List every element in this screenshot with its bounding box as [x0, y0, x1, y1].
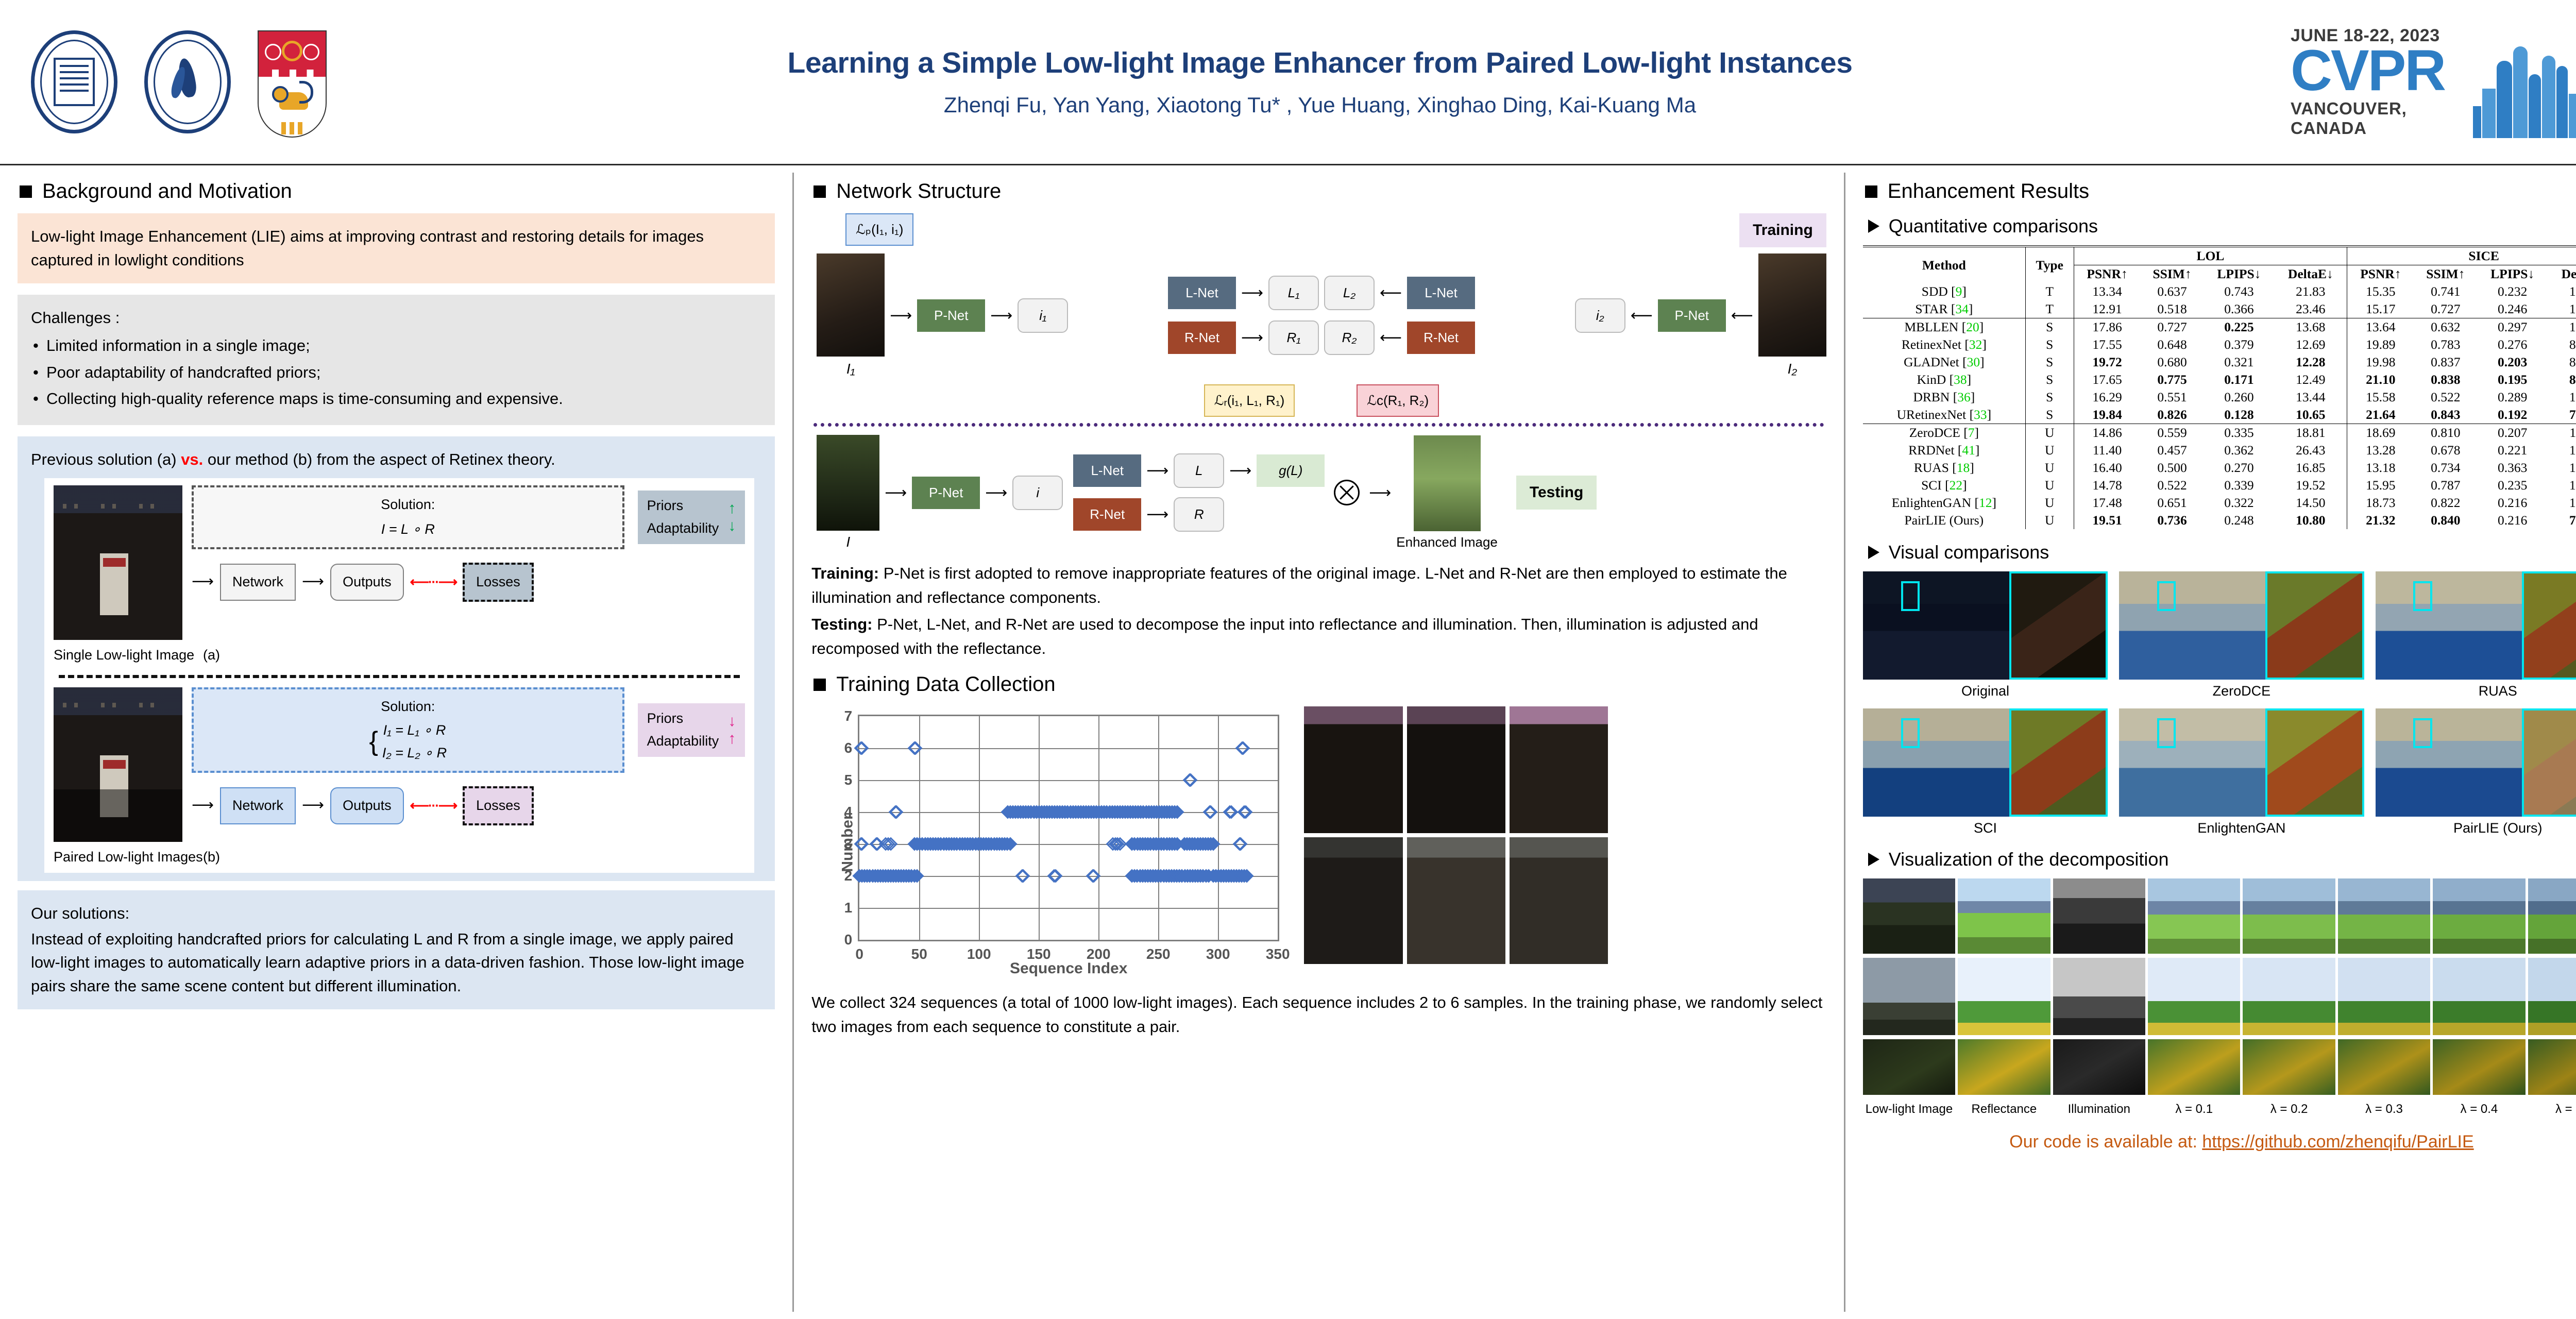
- cell-value: 21.10: [2347, 371, 2414, 388]
- table-row: GLADNet [30]S19.720.6800.32112.2819.980.…: [1863, 353, 2576, 371]
- challenges-list: Limited information in a single image; P…: [31, 334, 761, 411]
- priors-down-arrow-icon: ↓: [728, 714, 736, 729]
- data-point: [855, 741, 869, 755]
- section-title-text: Training Data Collection: [836, 673, 1055, 696]
- comparison-main-image: [2376, 571, 2522, 680]
- p-net-box-right: P-Net: [1658, 299, 1726, 332]
- cell-value: 0.248: [2204, 512, 2274, 529]
- comparison-main-image: [2119, 708, 2265, 817]
- training-tag: Training: [1739, 213, 1826, 247]
- cell-value: 11.93: [2548, 424, 2576, 442]
- comparison-images: [2119, 708, 2364, 817]
- arrow-icon: ⟶: [1229, 462, 1251, 480]
- visual-comparison-item: SCI: [1863, 708, 2108, 836]
- subsection-title-text: Quantitative comparisons: [1889, 215, 2098, 237]
- priors-label: Priors: [647, 496, 719, 516]
- data-point: [1204, 805, 1218, 819]
- cell-value: 0.648: [2141, 336, 2204, 353]
- conference-city: VANCOUVER, CANADA: [2291, 99, 2468, 138]
- arrow-icon: ⟶: [192, 794, 214, 817]
- decomposition-image: [2243, 958, 2335, 1035]
- cell-value: 0.322: [2204, 494, 2274, 512]
- cell-value: 16.08: [2548, 283, 2576, 300]
- R-box: R: [1174, 497, 1224, 532]
- table-row: RUAS [18]U16.400.5000.27016.8513.180.734…: [1863, 459, 2576, 477]
- subsection-title-text: Visual comparisons: [1889, 542, 2049, 563]
- cell-value: 13.68: [2274, 318, 2347, 336]
- losses-box-a: Losses: [463, 563, 534, 602]
- decomposition-image: [2243, 1039, 2335, 1095]
- decomposition-image: [2528, 878, 2576, 954]
- gridline: [1039, 716, 1040, 940]
- cell-value: 0.128: [2204, 406, 2274, 424]
- network-diagram-training: ℒₚ(I₁, i₁) Training I₁ ⟶ P-Net ⟶ i₁: [817, 213, 1826, 417]
- cell-type: U: [2025, 494, 2074, 512]
- arrow-icon: ⟵: [1731, 307, 1753, 325]
- comparison-main-image: [2119, 571, 2265, 680]
- cell-type: U: [2025, 459, 2074, 477]
- cell-value: 15.95: [2347, 477, 2414, 494]
- figure-b-caption-row: Paired Low-light Images (b): [54, 847, 745, 868]
- testing-tag: Testing: [1516, 476, 1597, 510]
- solution-equation-1: I₁ = L₁ ∘ R: [382, 720, 447, 741]
- figure-a-caption: Single Low-light Image: [54, 645, 203, 666]
- cell-value: 16.40: [2074, 459, 2141, 477]
- l-net-box-left: L-Net: [1168, 277, 1236, 309]
- training-description: Training: P-Net is first adopted to remo…: [811, 562, 1826, 610]
- cell-type: S: [2025, 371, 2074, 388]
- square-bullet-icon: [814, 679, 826, 691]
- cell-method: RetinexNet [32]: [1863, 336, 2026, 353]
- code-url-link[interactable]: https://github.com/zhenqifu/PairLIE: [2202, 1132, 2473, 1152]
- data-point: [1224, 805, 1238, 819]
- comparison-images: [1863, 571, 2108, 680]
- table-header: Method Type LOL SICE PSNR↑ SSIM↑ LPIPS↓ …: [1863, 246, 2576, 283]
- testing-label: Testing:: [811, 615, 872, 633]
- subsection-visual: Visual comparisons: [1868, 542, 2576, 563]
- decomposition-label: λ = 0.1: [2148, 1102, 2240, 1117]
- cell-value: 0.232: [2477, 283, 2548, 300]
- cell-value: 0.216: [2477, 494, 2548, 512]
- xiamen-university-seal-icon: [31, 30, 123, 133]
- cell-value: 0.736: [2141, 512, 2204, 529]
- decomposition-image: [1863, 1039, 1955, 1095]
- chart-plot-area: 01234567050100150200250300350: [858, 715, 1279, 941]
- cell-type: S: [2025, 336, 2074, 353]
- arrow-icon: ⟶: [1369, 484, 1391, 502]
- cell-value: 0.651: [2141, 494, 2204, 512]
- compare-intro: Previous solution (a) vs. our method (b)…: [31, 448, 761, 472]
- arrow-icon: ⟶: [990, 307, 1012, 325]
- challenges-box: Challenges : Limited information in a si…: [18, 295, 775, 426]
- cell-value: 15.17: [2347, 300, 2414, 318]
- cell-value: 0.838: [2414, 371, 2477, 388]
- cell-method: SDD [9]: [1863, 283, 2026, 300]
- results-table: Method Type LOL SICE PSNR↑ SSIM↑ LPIPS↓ …: [1863, 245, 2576, 529]
- p-net-box-test: P-Net: [912, 477, 980, 509]
- cell-value: 7.728: [2548, 406, 2576, 424]
- training-photo: [1510, 837, 1608, 964]
- chart-xlabel: Sequence Index: [858, 960, 1279, 977]
- decomposition-label: λ = 0.3: [2338, 1102, 2430, 1117]
- decomposition-image: [2053, 878, 2145, 954]
- label-I1: I₁: [846, 361, 855, 377]
- cell-value: 0.203: [2477, 353, 2548, 371]
- cell-value: 0.522: [2414, 388, 2477, 406]
- col-header-lol-psnr: PSNR↑: [2074, 265, 2141, 283]
- column-results: Enhancement Results Quantitative compari…: [1845, 165, 2576, 1319]
- decomposition-image: [2433, 958, 2525, 1035]
- data-point: [1239, 805, 1252, 819]
- outputs-box-a: Outputs: [330, 564, 404, 601]
- cell-value: 0.743: [2204, 283, 2274, 300]
- cell-value: 18.73: [2347, 494, 2414, 512]
- col-header-sice-lpips: LPIPS↓: [2477, 265, 2548, 283]
- cell-type: T: [2025, 283, 2074, 300]
- cell-value: 0.260: [2204, 388, 2274, 406]
- cell-value: 0.289: [2477, 388, 2548, 406]
- y-axis-tick: 5: [844, 772, 853, 788]
- figure-a-caption-row: Single Low-light Image (a): [54, 645, 745, 666]
- comparison-images: [1863, 708, 2108, 817]
- gridline: [859, 908, 1278, 909]
- cell-value: 13.28: [2347, 442, 2414, 459]
- decomposition-label: Low-light Image: [1863, 1102, 1955, 1117]
- decomposition-image: [2148, 1039, 2240, 1095]
- col-header-lol-deltae: DeltaE↓: [2274, 265, 2347, 283]
- table-row: MBLLEN [20]S17.860.7270.22513.6813.640.6…: [1863, 318, 2576, 336]
- L2-box: L₂: [1324, 276, 1375, 310]
- square-bullet-icon: [20, 185, 32, 198]
- code-prefix: Our code is available at:: [2009, 1132, 2202, 1152]
- table-row: SCI [22]U14.780.5220.33919.5215.950.7870…: [1863, 477, 2576, 494]
- section-header-network: Network Structure: [814, 180, 1826, 203]
- group-header-lol: LOL: [2074, 246, 2347, 265]
- table-row: SDD [9]T13.340.6370.74321.8315.350.7410.…: [1863, 283, 2576, 300]
- cell-value: 0.518: [2141, 300, 2204, 318]
- y-axis-tick: 6: [844, 740, 853, 756]
- col-header-sice-ssim: SSIM↑: [2414, 265, 2477, 283]
- visual-comparison-item: RUAS: [2376, 571, 2576, 699]
- r-net-box-right: R-Net: [1407, 322, 1475, 354]
- comparison-label: RUAS: [2376, 683, 2576, 699]
- comparison-zoom-crop: [2265, 708, 2364, 817]
- arrow-icon: ⟵: [1380, 284, 1402, 302]
- cell-value: 19.72: [2074, 353, 2141, 371]
- solution-label: Solution:: [207, 495, 609, 515]
- col-header-lol-ssim: SSIM↑: [2141, 265, 2204, 283]
- comparison-main-image: [1863, 571, 2009, 680]
- cell-value: 19.98: [2347, 353, 2414, 371]
- cell-value: 0.216: [2477, 512, 2548, 529]
- cell-type: U: [2025, 477, 2074, 494]
- cell-method: URetinexNet [33]: [1863, 406, 2026, 424]
- cell-value: 0.207: [2477, 424, 2548, 442]
- decomposition-image: [2528, 958, 2576, 1035]
- author-list: Zhenqi Fu, Yan Yang, Xiaotong Tu* , Yue …: [363, 93, 2277, 117]
- cell-value: 19.51: [2074, 512, 2141, 529]
- cell-value: 0.734: [2414, 459, 2477, 477]
- cell-value: 0.457: [2141, 442, 2204, 459]
- cell-method: RUAS [18]: [1863, 459, 2026, 477]
- input-image-I1: [817, 253, 885, 357]
- network-box-a: Network: [220, 564, 296, 601]
- y-axis-tick: 7: [844, 708, 853, 724]
- col-header-sice-psnr: PSNR↑: [2347, 265, 2414, 283]
- decomposition-image: [2338, 878, 2430, 954]
- cell-type: S: [2025, 388, 2074, 406]
- arrow-icon: ⟶: [890, 307, 912, 325]
- cell-value: 0.559: [2141, 424, 2204, 442]
- solutions-title: Our solutions:: [31, 902, 761, 925]
- decomposition-label: λ = 0.2: [2243, 1102, 2335, 1117]
- ntu-shield-icon: [258, 30, 349, 133]
- l-net-box-test: L-Net: [1073, 454, 1141, 487]
- comparison-images: [2119, 571, 2364, 680]
- cell-value: 16.81: [2548, 459, 2576, 477]
- arrow-icon: ⟶: [885, 484, 907, 502]
- col-header-sice-deltae: DeltaE↓: [2548, 265, 2576, 283]
- cell-method: ZeroDCE [7]: [1863, 424, 2026, 442]
- cell-value: 0.637: [2141, 283, 2204, 300]
- cell-type: U: [2025, 442, 2074, 459]
- loss-double-arrow-icon: ⟵···⟶: [410, 796, 457, 815]
- cell-value: 0.810: [2414, 424, 2477, 442]
- cell-method: STAR [34]: [1863, 300, 2026, 318]
- label-I2: I₂: [1788, 361, 1797, 377]
- figure-a: Solution: I = L ∘ R Priors Adaptability: [44, 478, 754, 873]
- cell-value: 14.50: [2274, 494, 2347, 512]
- figure-divider: [59, 675, 740, 678]
- decomposition-image: [2433, 878, 2525, 954]
- cell-value: 0.741: [2414, 283, 2477, 300]
- decomposition-labels: Low-light ImageReflectanceIlluminationλ …: [1863, 1099, 2576, 1117]
- feature-i-box: i: [1012, 476, 1063, 510]
- cell-value: 13.44: [2274, 388, 2347, 406]
- col-header-method: Method: [1863, 246, 2026, 283]
- cell-value: 0.270: [2204, 459, 2274, 477]
- data-point: [1234, 837, 1248, 851]
- column-background: Background and Motivation Low-light Imag…: [0, 165, 792, 1319]
- cell-value: 21.83: [2274, 283, 2347, 300]
- cell-value: 16.29: [2074, 388, 2141, 406]
- section-header-results: Enhancement Results: [1865, 180, 2576, 203]
- arrow-icon: ⟶: [1241, 329, 1263, 347]
- cell-value: 13.18: [2347, 459, 2414, 477]
- decomposition-image: [1958, 1039, 2050, 1095]
- cell-value: 0.246: [2477, 300, 2548, 318]
- decomposition-image: [2148, 878, 2240, 954]
- zoom-region-box: [2413, 581, 2432, 611]
- single-lowlight-photo: [54, 485, 182, 640]
- conference-name: CVPR: [2291, 46, 2445, 95]
- comparison-label: EnlightenGAN: [2119, 820, 2364, 836]
- table-row: RRDNet [41]U11.400.4570.36226.4313.280.6…: [1863, 442, 2576, 459]
- L1-box: L₁: [1268, 276, 1319, 310]
- decomposition-image: [2053, 958, 2145, 1035]
- arrow-icon: ⟶: [1241, 284, 1263, 302]
- table-row: STAR [34]T12.910.5180.36623.4615.170.727…: [1863, 300, 2576, 318]
- figure-b: Solution: { I₁ = L₁ ∘ R I₂ = L₂ ∘ R: [54, 687, 745, 842]
- compare-intro-a: Previous solution (a): [31, 450, 181, 468]
- data-point: [855, 837, 869, 851]
- l-net-box-right: L-Net: [1407, 277, 1475, 309]
- cell-value: 18.81: [2274, 424, 2347, 442]
- training-photo: [1407, 706, 1505, 833]
- cell-value: 0.632: [2414, 318, 2477, 336]
- comparison-zoom-crop: [2522, 708, 2576, 817]
- figure-a-panel-label: (a): [203, 645, 220, 666]
- data-point: [1016, 869, 1030, 883]
- priors-up-arrow-icon: ↑: [728, 501, 736, 516]
- list-item: Poor adaptability of handcrafted priors;: [31, 361, 761, 384]
- cell-value: 0.171: [2204, 371, 2274, 388]
- vs-label: vs.: [181, 450, 203, 468]
- solution-box-b: Solution: { I₁ = L₁ ∘ R I₂ = L₂ ∘ R: [192, 687, 624, 773]
- loss-r-box: ℒᵣ(i₁, L₁, R₁): [1204, 384, 1295, 417]
- loss-double-arrow-icon: ⟵···⟶: [410, 572, 457, 591]
- table-body: SDD [9]T13.340.6370.74321.8315.350.7410.…: [1863, 283, 2576, 529]
- poster-body: Background and Motivation Low-light Imag…: [0, 165, 2576, 1319]
- r-net-box-left: R-Net: [1168, 322, 1236, 354]
- cell-value: 14.86: [2074, 424, 2141, 442]
- cell-value: 12.28: [2274, 353, 2347, 371]
- data-caption: We collect 324 sequences (a total of 100…: [811, 991, 1826, 1039]
- cell-value: 0.379: [2204, 336, 2274, 353]
- cell-value: 10.80: [2274, 512, 2347, 529]
- cell-value: 23.46: [2274, 300, 2347, 318]
- decomposition-image: [2053, 1039, 2145, 1095]
- feature-i1-box: i₁: [1018, 298, 1068, 333]
- subsection-title-text: Visualization of the decomposition: [1889, 849, 2169, 870]
- cell-value: 21.64: [2347, 406, 2414, 424]
- intro-box: Low-light Image Enhancement (LIE) aims a…: [18, 213, 775, 283]
- arrow-icon: ⟶: [1146, 462, 1168, 480]
- cell-value: 16.35: [2548, 300, 2576, 318]
- adaptability-label: Adaptability: [647, 731, 719, 752]
- y-axis-tick: 0: [844, 932, 853, 948]
- cell-value: 0.783: [2414, 336, 2477, 353]
- cell-value: 18.60: [2548, 318, 2576, 336]
- enhanced-image: [1414, 435, 1481, 531]
- cell-value: 8.009: [2548, 371, 2576, 388]
- decomposition-image: [1958, 878, 2050, 954]
- feature-i2-box: i₂: [1575, 298, 1625, 333]
- cell-value: 17.48: [2074, 494, 2141, 512]
- cell-value: 16.85: [2274, 459, 2347, 477]
- section-title-text: Enhancement Results: [1888, 180, 2089, 203]
- compare-intro-b: our method (b) from the aspect of Retine…: [203, 450, 555, 468]
- arrow-icon: ⟶: [302, 570, 324, 593]
- y-axis-tick: 1: [844, 900, 853, 916]
- outputs-box-b: Outputs: [330, 787, 404, 824]
- cell-value: 0.192: [2477, 406, 2548, 424]
- gridline: [1158, 716, 1159, 940]
- arrowhead-bullet-icon: [1868, 546, 1879, 559]
- comparison-zoom-crop: [2009, 708, 2108, 817]
- cell-value: 12.91: [2074, 300, 2141, 318]
- multiply-operator-icon: [1334, 480, 1360, 505]
- retinex-comparison-box: Previous solution (a) vs. our method (b)…: [18, 436, 775, 881]
- decomposition-row-mountain: [1863, 878, 2576, 954]
- vancouver-skyline-icon: [2471, 40, 2576, 138]
- intro-text: Low-light Image Enhancement (LIE) aims a…: [31, 227, 704, 269]
- cell-method: MBLLEN [20]: [1863, 318, 2026, 336]
- cell-method: EnlightenGAN [12]: [1863, 494, 2026, 512]
- subsection-quantitative: Quantitative comparisons: [1868, 215, 2576, 237]
- table-row: ZeroDCE [7]U14.860.5590.33518.8118.690.8…: [1863, 424, 2576, 442]
- decomposition-image: [2243, 878, 2335, 954]
- loss-p-box: ℒₚ(I₁, i₁): [845, 213, 913, 246]
- decomposition-image: [1863, 958, 1955, 1035]
- zoom-region-box: [1901, 581, 1920, 611]
- poster-header: Learning a Simple Low-light Image Enhanc…: [0, 0, 2576, 164]
- losses-box-b: Losses: [463, 786, 534, 825]
- arrow-icon: ⟶: [192, 570, 214, 593]
- decomposition-image: [1863, 878, 1955, 954]
- cell-value: 13.71: [2548, 477, 2576, 494]
- cell-value: 0.840: [2414, 512, 2477, 529]
- table-row: KinD [38]S17.650.7750.17112.4921.100.838…: [1863, 371, 2576, 388]
- cell-value: 0.678: [2414, 442, 2477, 459]
- cell-value: 0.335: [2204, 424, 2274, 442]
- list-item: Limited information in a single image;: [31, 334, 761, 358]
- cell-value: 19.52: [2274, 477, 2347, 494]
- cell-method: SCI [22]: [1863, 477, 2026, 494]
- cell-value: 0.276: [2477, 336, 2548, 353]
- decomposition-label: Reflectance: [1958, 1102, 2050, 1117]
- input-image-I2: [1758, 253, 1826, 357]
- our-solutions-box: Our solutions: Instead of exploiting han…: [18, 890, 775, 1010]
- section-title-text: Network Structure: [836, 180, 1001, 203]
- figure-b-panel-label: (b): [203, 847, 220, 868]
- cell-value: 0.837: [2414, 353, 2477, 371]
- adaptability-up-arrow-icon: ↑: [728, 731, 736, 747]
- subsection-decomposition: Visualization of the decomposition: [1868, 849, 2576, 870]
- comparison-label: SCI: [1863, 820, 2108, 836]
- cell-value: 0.363: [2477, 459, 2548, 477]
- input-image-I: [817, 435, 879, 531]
- testing-text: P-Net, L-Net, and R-Net are used to deco…: [811, 615, 1758, 657]
- L-box: L: [1174, 453, 1224, 488]
- zoom-region-box: [2157, 581, 2176, 611]
- table-group-header-row: Method Type LOL SICE: [1863, 246, 2576, 265]
- sequence-scatter-chart: 01234567050100150200250300350 Number Seq…: [815, 706, 1289, 979]
- cell-type: S: [2025, 406, 2074, 424]
- comparison-label: Original: [1863, 683, 2108, 699]
- adaptability-label: Adaptability: [647, 518, 719, 539]
- network-diagram-testing: I ⟶ P-Net ⟶ i L-Net ⟶ L ⟶ g(L): [817, 435, 1826, 550]
- cell-value: 14.78: [2074, 477, 2141, 494]
- visual-comparison-grid: OriginalZeroDCERUASSCIEnlightenGANPairLI…: [1863, 571, 2576, 836]
- group-header-sice: SICE: [2347, 246, 2576, 265]
- data-point: [1236, 741, 1250, 755]
- arrow-icon: ⟶: [1146, 505, 1168, 523]
- code-availability: Our code is available at: https://github…: [1863, 1132, 2576, 1152]
- solution-box-a: Solution: I = L ∘ R: [192, 485, 624, 549]
- square-bullet-icon: [814, 185, 826, 198]
- figure-b-caption: Paired Low-light Images: [54, 847, 203, 868]
- cell-value: 10.42: [2548, 494, 2576, 512]
- section-header-data: Training Data Collection: [814, 673, 1826, 696]
- cell-value: 0.727: [2141, 318, 2204, 336]
- cell-value: 12.49: [2274, 371, 2347, 388]
- cell-method: GLADNet [30]: [1863, 353, 2026, 371]
- data-point: [1048, 869, 1062, 883]
- training-photo: [1407, 837, 1505, 964]
- cell-value: 19.64: [2548, 442, 2576, 459]
- cell-value: 0.500: [2141, 459, 2204, 477]
